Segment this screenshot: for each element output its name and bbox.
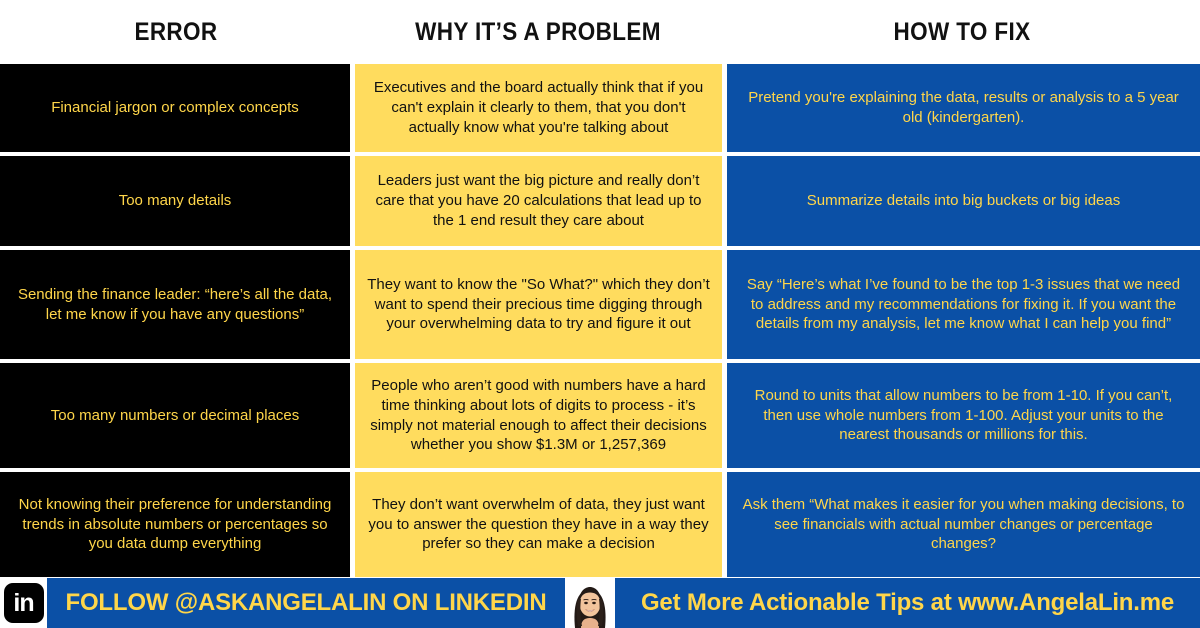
- cell-why: Leaders just want the big picture and re…: [355, 156, 722, 246]
- follow-cta[interactable]: FOLLOW @ASKANGELALIN ON LINKEDIN: [47, 578, 565, 628]
- cell-error: Too many numbers or decimal places: [0, 363, 350, 468]
- linkedin-icon[interactable]: in: [4, 583, 44, 623]
- website-cta[interactable]: Get More Actionable Tips at www.AngelaLi…: [615, 578, 1200, 628]
- cell-fix: Summarize details into big buckets or bi…: [727, 156, 1200, 246]
- cell-why: They want to know the "So What?" which t…: [355, 250, 722, 359]
- cell-error: Too many details: [0, 156, 350, 246]
- column-header-error: ERROR: [18, 18, 335, 47]
- cell-why: Executives and the board actually think …: [355, 64, 722, 152]
- website-cta-label: Get More Actionable Tips at www.AngelaLi…: [641, 589, 1174, 617]
- linkedin-badge[interactable]: in: [0, 578, 47, 628]
- cell-error: Sending the finance leader: “here’s all …: [0, 250, 350, 359]
- table-header-row: ERROR WHY IT’S A PROBLEM HOW TO FIX: [0, 0, 1200, 64]
- infographic-page: ERROR WHY IT’S A PROBLEM HOW TO FIX Fina…: [0, 0, 1200, 628]
- comparison-table: Financial jargon or complex concepts Exe…: [0, 64, 1200, 570]
- cell-why: People who aren’t good with numbers have…: [355, 363, 722, 468]
- table-row: Too many numbers or decimal places Peopl…: [0, 363, 1200, 468]
- table-row: Too many details Leaders just want the b…: [0, 156, 1200, 246]
- cell-error: Not knowing their preference for underst…: [0, 472, 350, 577]
- cell-fix: Say “Here’s what I’ve found to be the to…: [727, 250, 1200, 359]
- cell-why: They don’t want overwhelm of data, they …: [355, 472, 722, 577]
- cell-error: Financial jargon or complex concepts: [0, 64, 350, 152]
- cell-fix: Ask them “What makes it easier for you w…: [727, 472, 1200, 577]
- linkedin-icon-glyph: in: [4, 583, 44, 623]
- table-row: Not knowing their preference for underst…: [0, 472, 1200, 577]
- footer-bar: in FOLLOW @ASKANGELALIN ON LINKEDIN: [0, 578, 1200, 628]
- avatar: [565, 578, 615, 628]
- column-header-why: WHY IT’S A PROBLEM: [371, 18, 706, 47]
- follow-cta-label: FOLLOW @ASKANGELALIN ON LINKEDIN: [66, 589, 547, 617]
- column-header-fix: HOW TO FIX: [748, 18, 1176, 47]
- table-row: Financial jargon or complex concepts Exe…: [0, 64, 1200, 152]
- cell-fix: Round to units that allow numbers to be …: [727, 363, 1200, 468]
- table-row: Sending the finance leader: “here’s all …: [0, 250, 1200, 359]
- cell-fix: Pretend you're explaining the data, resu…: [727, 64, 1200, 152]
